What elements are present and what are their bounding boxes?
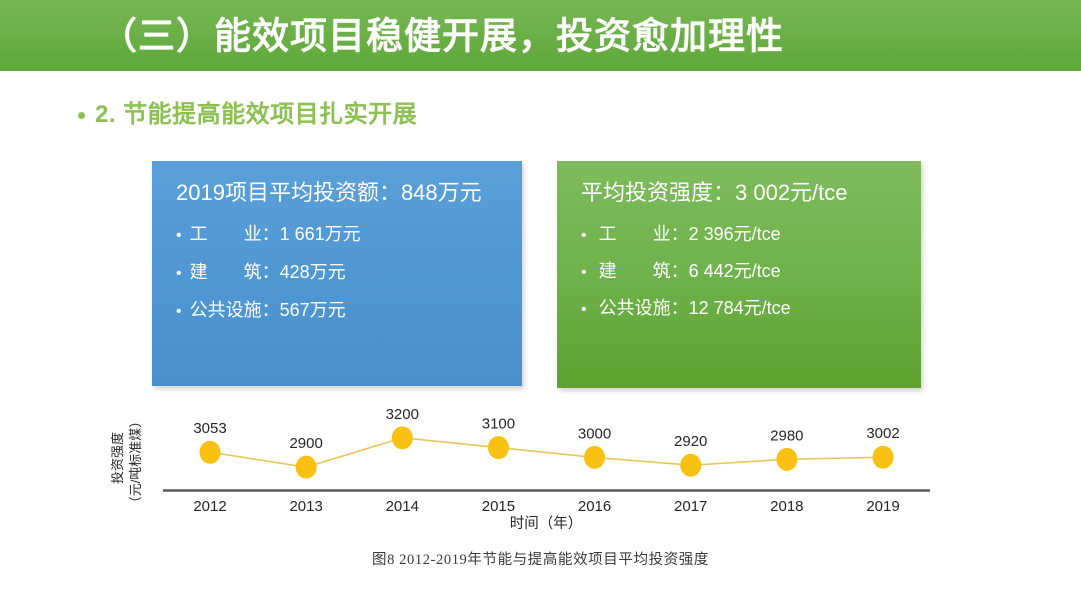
- list-item-label: 公共设施：567万元: [190, 301, 346, 319]
- x-axis-tick-label: 2017: [674, 498, 707, 515]
- data-point-marker: [392, 426, 413, 449]
- list-item: • 建 筑：6 442元/tce: [581, 262, 897, 281]
- bullet-dot-icon: [78, 112, 85, 119]
- x-axis-tick-label: 2019: [866, 498, 899, 515]
- list-item: • 工 业：2 396元/tce: [581, 225, 897, 244]
- chart-svg: 投资强度 （元/吨标准煤） 30532900320031003000292029…: [100, 400, 960, 560]
- bullet-dot-icon: •: [581, 265, 587, 281]
- bullet-dot-icon: •: [176, 266, 182, 282]
- series-data-labels: 30532900320031003000292029803002: [193, 406, 899, 452]
- info-box-title: 2019项目平均投资额：848万元: [176, 181, 498, 205]
- list-item-label: 公共设施：12 784元/tce: [599, 299, 791, 317]
- list-item: • 公共设施：12 784元/tce: [581, 299, 897, 318]
- slide-canvas: （三）能效项目稳健开展，投资愈加理性 2. 节能提高能效项目扎实开展 2019项…: [0, 0, 1081, 607]
- section-subtitle-label: 2. 节能提高能效项目扎实开展: [95, 103, 417, 127]
- data-point-marker: [488, 436, 509, 459]
- data-point-marker: [776, 448, 797, 471]
- info-box-list: • 工 业：1 661万元 • 建 筑：428万元 • 公共设施：567万元: [176, 225, 498, 320]
- x-axis-label: 时间（年）: [510, 515, 583, 532]
- data-point-marker: [584, 446, 605, 469]
- info-box-average-investment: 2019项目平均投资额：848万元 • 工 业：1 661万元 • 建 筑：42…: [152, 161, 522, 386]
- data-point-marker: [200, 441, 221, 464]
- bullet-dot-icon: •: [176, 304, 182, 320]
- x-axis-tick-labels: 20122013201420152016201720182019: [193, 498, 899, 515]
- x-axis-tick-label: 2012: [193, 498, 226, 515]
- data-point-label: 2920: [674, 433, 707, 450]
- data-point-label: 3000: [578, 425, 611, 442]
- list-item: • 公共设施：567万元: [176, 301, 498, 320]
- info-box-list: • 工 业：2 396元/tce • 建 筑：6 442元/tce • 公共设施…: [581, 225, 897, 318]
- page-title: （三）能效项目稳健开展，投资愈加理性: [100, 17, 784, 54]
- list-item-label: 工 业：1 661万元: [190, 225, 361, 243]
- bullet-dot-icon: •: [581, 228, 587, 244]
- x-axis-tick-label: 2018: [770, 498, 803, 515]
- bullet-dot-icon: •: [176, 228, 182, 244]
- list-item: • 工 业：1 661万元: [176, 225, 498, 244]
- info-box-title: 平均投资强度：3 002元/tce: [581, 181, 897, 205]
- list-item-label: 建 筑：6 442元/tce: [599, 262, 781, 280]
- y-axis-unit-label: （元/吨标准煤）: [128, 415, 143, 510]
- data-point-label: 3002: [866, 425, 899, 442]
- list-item: • 建 筑：428万元: [176, 263, 498, 282]
- data-point-label: 3200: [386, 406, 419, 423]
- figure-caption: 图8 2012-2019年节能与提高能效项目平均投资强度: [0, 548, 1081, 569]
- data-point-label: 2900: [289, 435, 322, 452]
- data-point-label: 3053: [193, 420, 226, 437]
- data-point-marker: [296, 456, 317, 479]
- info-box-average-intensity: 平均投资强度：3 002元/tce • 工 业：2 396元/tce • 建 筑…: [557, 161, 921, 388]
- investment-intensity-line-chart: 投资强度 （元/吨标准煤） 30532900320031003000292029…: [100, 400, 960, 560]
- data-point-label: 2980: [770, 427, 803, 444]
- header-banner: （三）能效项目稳健开展，投资愈加理性: [0, 0, 1081, 71]
- x-axis-tick-label: 2013: [289, 498, 322, 515]
- y-axis-label: 投资强度: [110, 432, 125, 484]
- list-item-label: 建 筑：428万元: [190, 263, 346, 281]
- x-axis-tick-label: 2014: [386, 498, 419, 515]
- bullet-dot-icon: •: [581, 302, 587, 318]
- data-point-marker: [873, 446, 894, 469]
- data-point-marker: [680, 454, 701, 477]
- section-subtitle: 2. 节能提高能效项目扎实开展: [78, 103, 417, 127]
- list-item-label: 工 业：2 396元/tce: [599, 225, 781, 243]
- data-point-label: 3100: [482, 416, 515, 433]
- x-axis-tick-label: 2016: [578, 498, 611, 515]
- x-axis-tick-label: 2015: [482, 498, 515, 515]
